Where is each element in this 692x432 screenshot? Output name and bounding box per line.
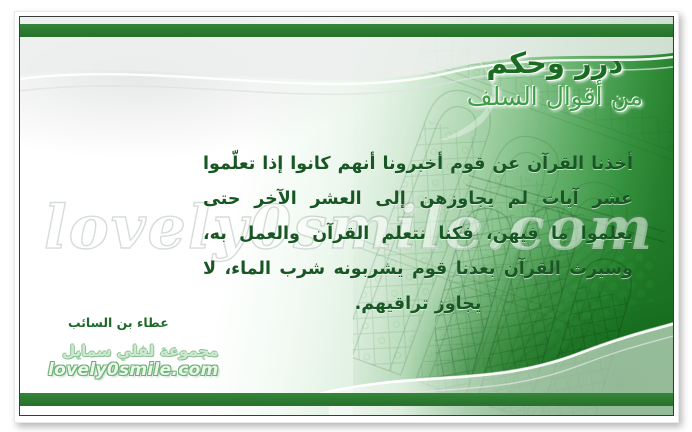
top-green-bar xyxy=(20,24,673,37)
bottom-green-bar xyxy=(20,393,673,406)
headline-block: درر وحكم من أقوال السلف xyxy=(467,47,643,112)
quote-text: أخذنا القرآن عن قوم أخبرونا أنهم كانوا إ… xyxy=(203,147,633,322)
quote-card: درر وحكم من أقوال السلف lovely0smile.com… xyxy=(19,16,674,416)
quote-attribution: عطاء بن السائب xyxy=(68,315,169,330)
site-logo: مجموعة لفلي سمايل lovely0smile.com xyxy=(48,343,219,379)
site-logo-latin: lovely0smile.com xyxy=(48,361,219,379)
site-logo-arabic: مجموعة لفلي سمايل xyxy=(48,343,219,359)
title-main: درر وحكم xyxy=(467,47,643,80)
title-subtitle: من أقوال السلف xyxy=(467,82,643,112)
poster-page: درر وحكم من أقوال السلف lovely0smile.com… xyxy=(0,0,692,432)
